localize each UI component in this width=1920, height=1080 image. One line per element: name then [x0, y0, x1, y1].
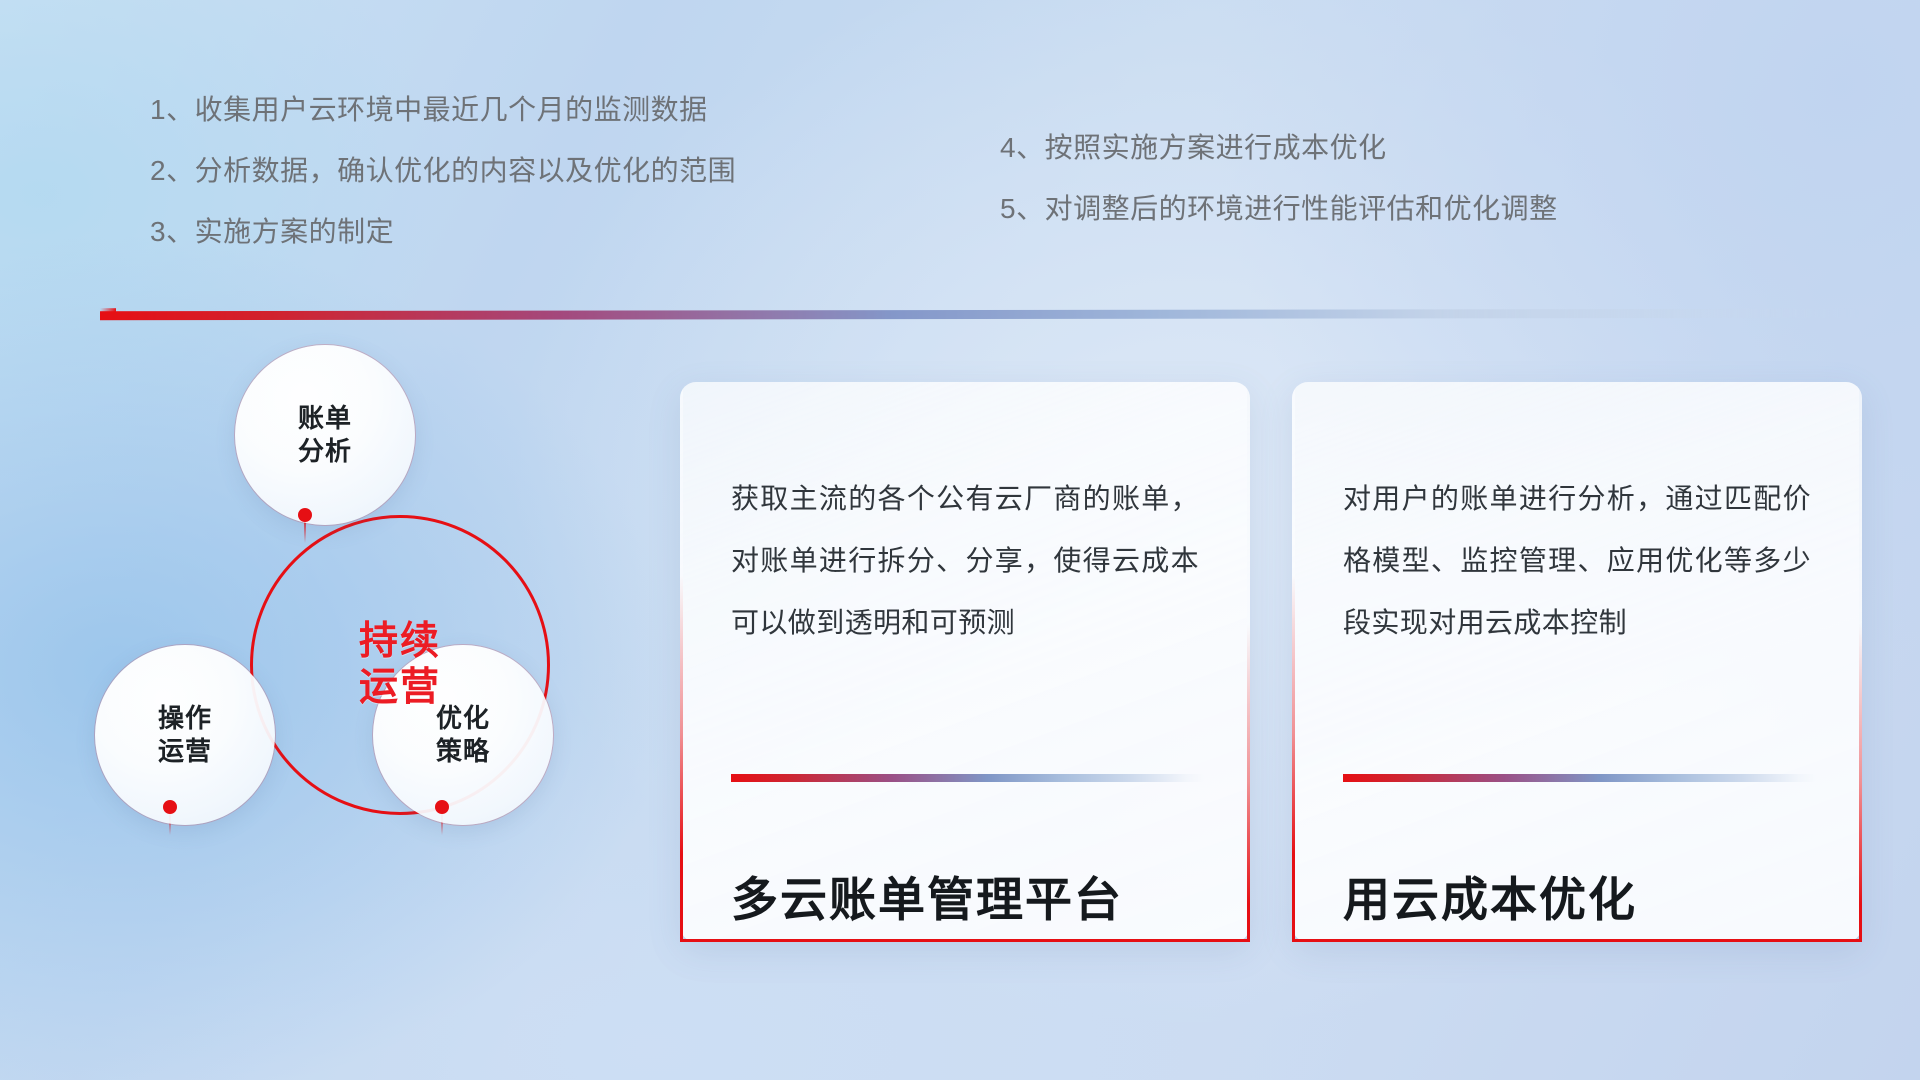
list-item: 2、分析数据，确认优化的内容以及优化的范围: [150, 157, 736, 185]
process-list-section: 1、收集用户云环境中最近几个月的监测数据 2、分析数据，确认优化的内容以及优化的…: [0, 96, 1920, 256]
feature-card-rule: [731, 774, 1205, 782]
slide-canvas: 1、收集用户云环境中最近几个月的监测数据 2、分析数据，确认优化的内容以及优化的…: [0, 0, 1920, 1080]
feature-card-content: 对用户的账单进行分析，通过匹配价格模型、监控管理、应用优化等多少段实现对用云成本…: [1295, 382, 1859, 939]
feature-card-rule: [1343, 774, 1817, 782]
center-label-line1: 持续: [359, 619, 441, 665]
center-label-line2: 运营: [359, 665, 441, 711]
bubble-label-line2: 运营: [158, 735, 212, 768]
cycle-diagram: 账单 分析 操作 运营 优化 策略 持续 运营: [95, 345, 665, 945]
feature-card-cost-optimization[interactable]: 对用户的账单进行分析，通过匹配价格模型、监控管理、应用优化等多少段实现对用云成本…: [1292, 382, 1862, 942]
diagram-bubble-billing-analysis[interactable]: 账单 分析: [235, 345, 415, 525]
list-item: 3、实施方案的制定: [150, 218, 736, 246]
bubble-label-line1: 账单: [298, 402, 352, 435]
list-item: 1、收集用户云环境中最近几个月的监测数据: [150, 96, 736, 124]
bubble-label-line2: 分析: [298, 435, 352, 468]
feature-card-title: 用云成本优化: [1343, 874, 1811, 926]
feature-card-multicloud-billing[interactable]: 获取主流的各个公有云厂商的账单，对账单进行拆分、分享，使得云成本可以做到透明和可…: [680, 382, 1250, 942]
process-list-left-column: 1、收集用户云环境中最近几个月的监测数据 2、分析数据，确认优化的内容以及优化的…: [150, 96, 736, 279]
bubble-label-line1: 操作: [158, 702, 212, 735]
feature-card-content: 获取主流的各个公有云厂商的账单，对账单进行拆分、分享，使得云成本可以做到透明和可…: [683, 382, 1247, 939]
process-list-right-column: 4、按照实施方案进行成本优化 5、对调整后的环境进行性能评估和优化调整: [1000, 134, 1558, 256]
section-divider: [100, 309, 1860, 320]
diagram-center-label: 持续 运营: [250, 515, 550, 815]
feature-card-body: 对用户的账单进行分析，通过匹配价格模型、监控管理、应用优化等多少段实现对用云成本…: [1343, 468, 1811, 698]
list-item: 5、对调整后的环境进行性能评估和优化调整: [1000, 195, 1558, 223]
list-item: 4、按照实施方案进行成本优化: [1000, 134, 1558, 162]
feature-card-title: 多云账单管理平台: [731, 874, 1199, 926]
feature-card-body: 获取主流的各个公有云厂商的账单，对账单进行拆分、分享，使得云成本可以做到透明和可…: [731, 468, 1199, 698]
diagram-bubble-operations[interactable]: 操作 运营: [95, 645, 275, 825]
diagram-node-dot-left: [163, 800, 177, 814]
